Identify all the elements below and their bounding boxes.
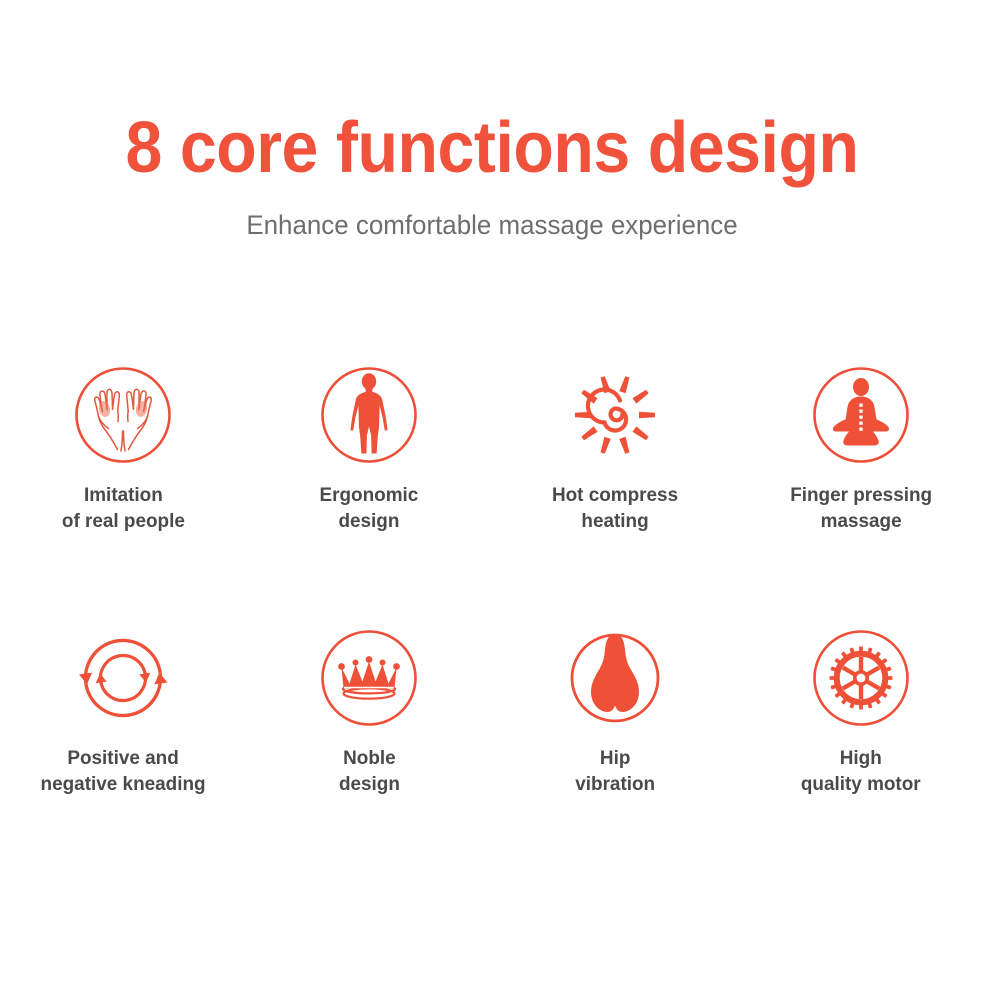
page-title: 8 core functions design [39,112,944,184]
feature-item-ergonomic: Ergonomic design [246,330,492,595]
feature-item-finger-pressing: Finger pressing massage [738,330,984,595]
feature-label: Hot compress heating [552,482,678,535]
feature-item-hot-compress: Hot compress heating [492,330,738,595]
feature-infographic-page: 8 core functions design Enhance comforta… [0,0,984,984]
sun-spiral-heat-icon [560,360,670,470]
feature-item-hip-vibration: Hip vibration [492,595,738,860]
feature-item-noble: Noble design [246,595,492,860]
open-hands-icon [68,360,178,470]
feature-item-kneading: Positive and negative kneading [0,595,246,860]
gear-cog-motor-icon [806,623,916,733]
meditating-person-acupressure-icon [806,360,916,470]
hip-buttocks-icon [560,623,670,733]
feature-item-imitation: Imitation of real people [0,330,246,595]
header: 8 core functions design Enhance comforta… [0,0,984,239]
feature-label: High quality motor [801,745,921,798]
feature-label: Finger pressing massage [790,482,932,535]
crown-icon [314,623,424,733]
human-body-silhouette-icon [314,360,424,470]
feature-label: Ergonomic design [320,482,419,535]
feature-label: Positive and negative kneading [40,745,205,798]
feature-grid: Imitation of real people [0,330,984,860]
feature-item-motor: High quality motor [738,595,984,860]
page-subtitle: Enhance comfortable massage experience [20,184,965,239]
bidirectional-rotation-arrows-icon [68,623,178,733]
feature-label: Hip vibration [575,745,655,798]
feature-label: Imitation of real people [62,482,185,535]
feature-label: Noble design [339,745,400,798]
